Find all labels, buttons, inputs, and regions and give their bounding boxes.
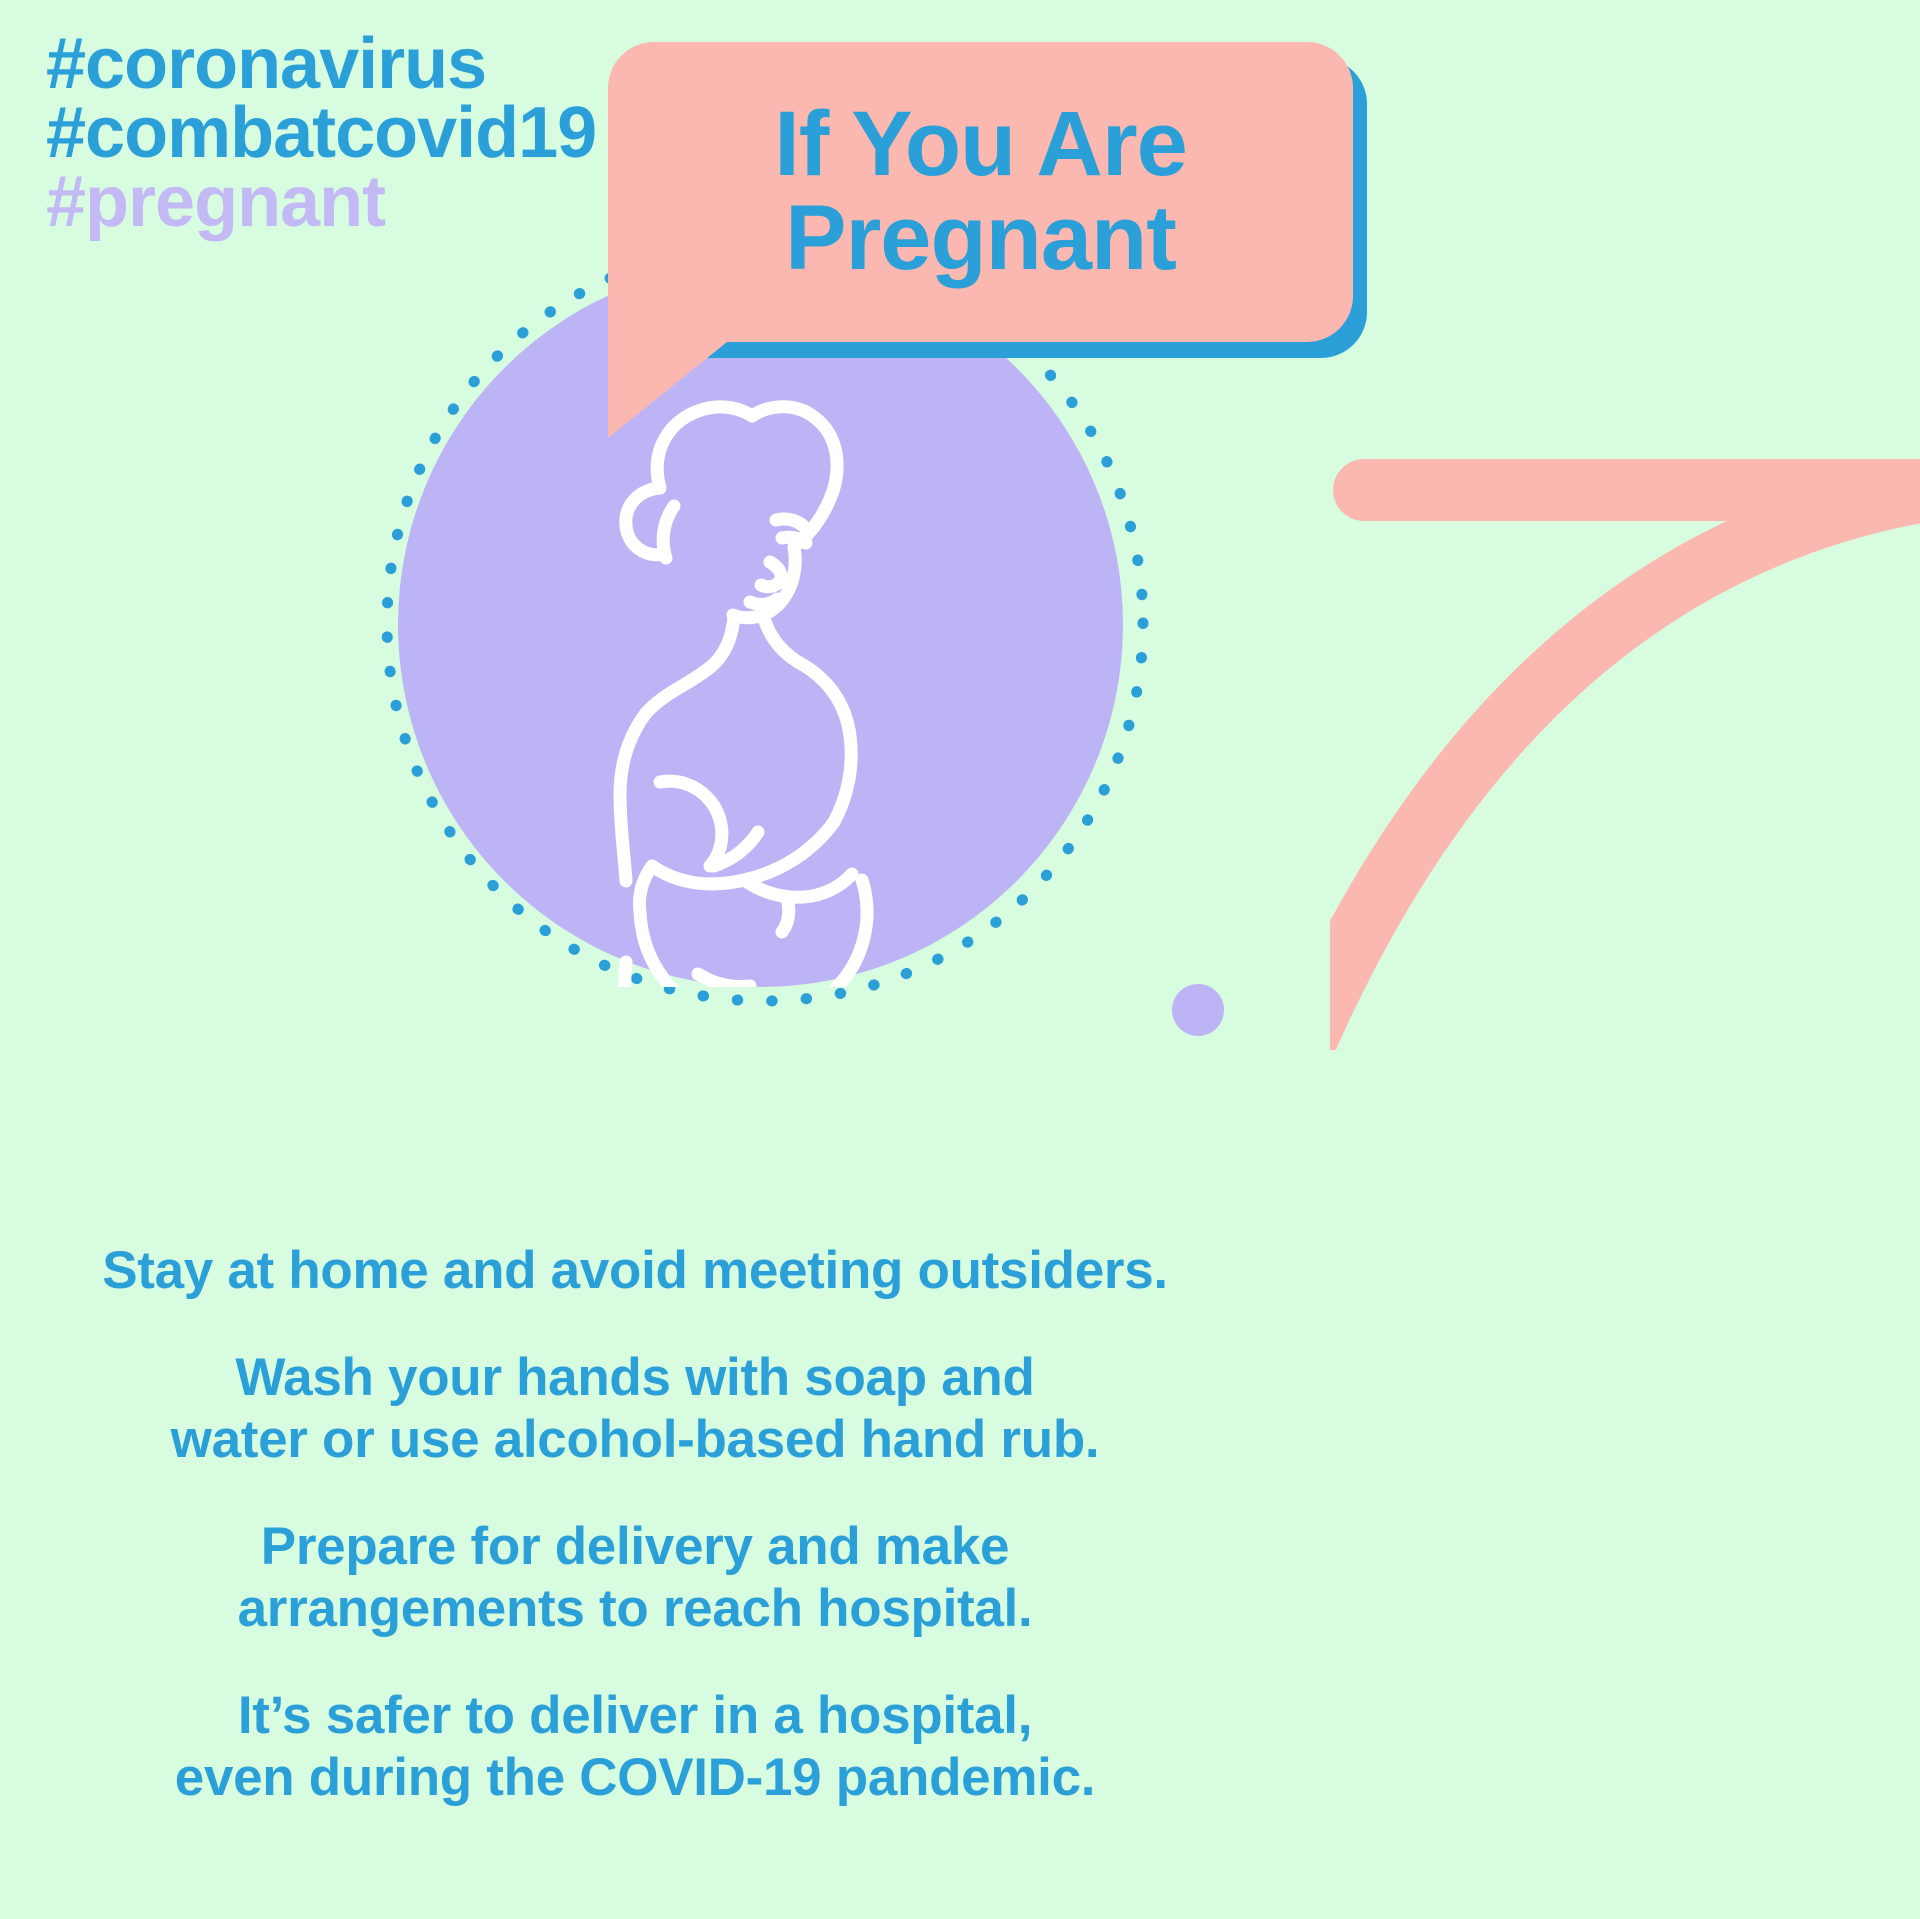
tip-line: It’s safer to deliver in a hospital, bbox=[238, 1686, 1032, 1745]
tip-line: Stay at home and avoid meeting outsiders… bbox=[102, 1241, 1168, 1300]
tip-line: Prepare for delivery and make bbox=[261, 1517, 1009, 1576]
tip-line: Wash your hands with soap and bbox=[235, 1348, 1034, 1407]
tip-item: Wash your hands with soap and water or u… bbox=[0, 1347, 1270, 1470]
speech-bubble: If You Are Pregnant bbox=[600, 38, 1390, 408]
poster-title-line1: If You Are bbox=[774, 98, 1187, 192]
tip-item: Stay at home and avoid meeting outsiders… bbox=[0, 1240, 1270, 1301]
tip-item: Prepare for delivery and make arrangemen… bbox=[0, 1516, 1270, 1639]
hashtag-pregnant: #pregnant bbox=[46, 168, 596, 237]
pink-arc-decoration bbox=[1330, 450, 1920, 1050]
hashtag-coronavirus: #coronavirus bbox=[46, 30, 596, 99]
tip-item: It’s safer to deliver in a hospital, eve… bbox=[0, 1685, 1270, 1808]
poster-title: If You Are Pregnant bbox=[608, 42, 1353, 342]
hashtag-block: #coronavirus #combatcovid19 #pregnant bbox=[46, 30, 596, 237]
tip-line: even during the COVID-19 pandemic. bbox=[175, 1748, 1095, 1807]
tip-line: arrangements to reach hospital. bbox=[238, 1579, 1033, 1638]
purple-dot-decoration bbox=[1172, 984, 1224, 1036]
hashtag-combatcovid19: #combatcovid19 bbox=[46, 99, 596, 168]
poster-canvas: #coronavirus #combatcovid19 #pregnant bbox=[0, 0, 1920, 1919]
tip-line: water or use alcohol-based hand rub. bbox=[171, 1410, 1100, 1469]
tips-list: Stay at home and avoid meeting outsiders… bbox=[0, 1240, 1270, 1808]
poster-title-line2: Pregnant bbox=[785, 192, 1176, 286]
